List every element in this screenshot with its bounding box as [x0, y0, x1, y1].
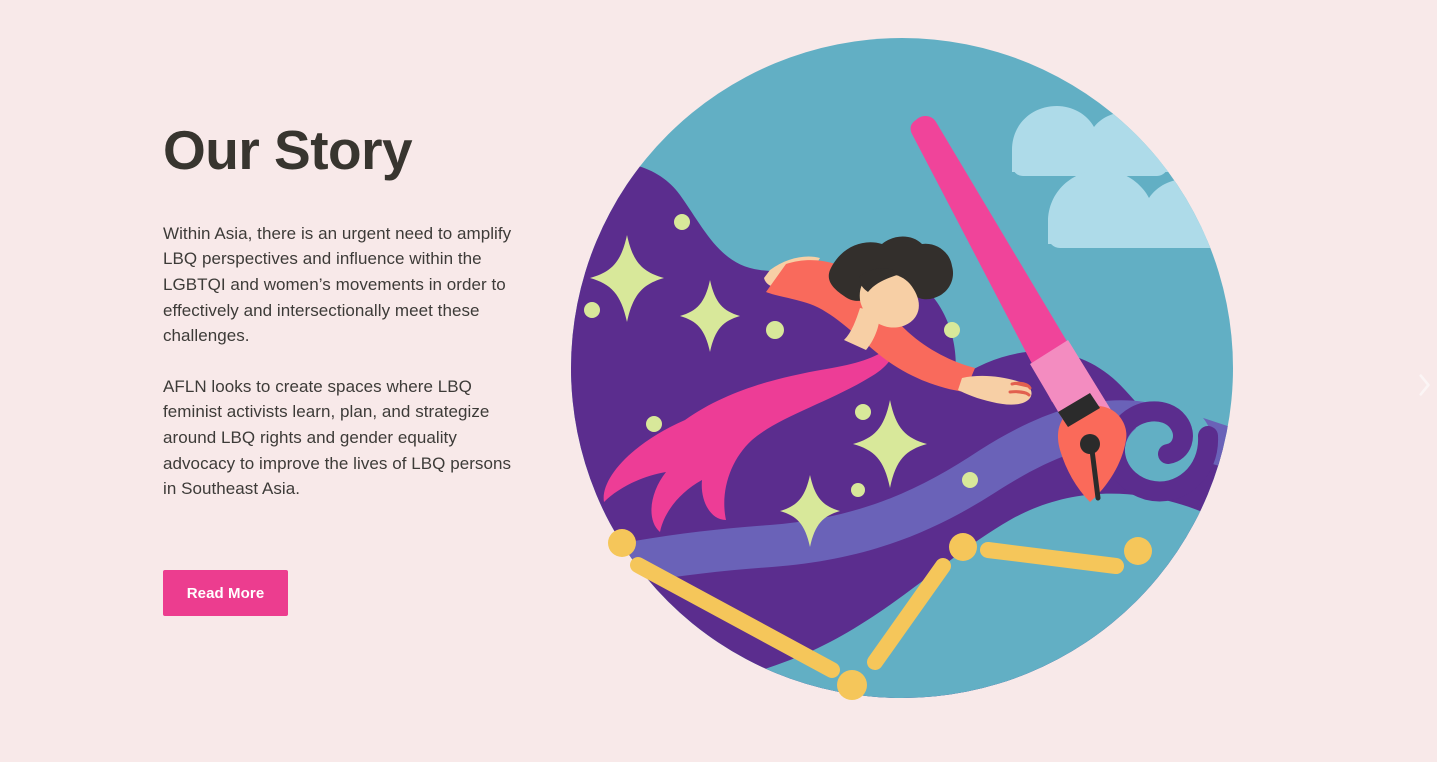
dot — [584, 302, 600, 318]
dot — [851, 483, 865, 497]
dot — [855, 404, 871, 420]
dot — [944, 322, 960, 338]
chevron-right-icon — [1419, 372, 1431, 398]
carousel-next-button[interactable] — [1413, 355, 1437, 415]
lbq-activist-with-pen-illustration — [560, 20, 1280, 720]
yellow-dot — [949, 533, 977, 561]
page-title: Our Story — [163, 122, 543, 180]
our-story-hero-section: Our Story Within Asia, there is an urgen… — [0, 0, 1437, 762]
illustration-svg — [560, 20, 1280, 720]
dot — [646, 416, 662, 432]
story-paragraph-1: Within Asia, there is an urgent need to … — [163, 221, 515, 349]
yellow-dot — [837, 670, 867, 700]
yellow-dot — [1124, 537, 1152, 565]
read-more-button[interactable]: Read More — [163, 570, 288, 616]
dot — [962, 472, 978, 488]
yellow-dot — [608, 529, 636, 557]
dot — [766, 321, 784, 339]
hero-text-column: Our Story Within Asia, there is an urgen… — [163, 122, 543, 502]
story-paragraph-2: AFLN looks to create spaces where LBQ fe… — [163, 374, 515, 502]
dot — [674, 214, 690, 230]
